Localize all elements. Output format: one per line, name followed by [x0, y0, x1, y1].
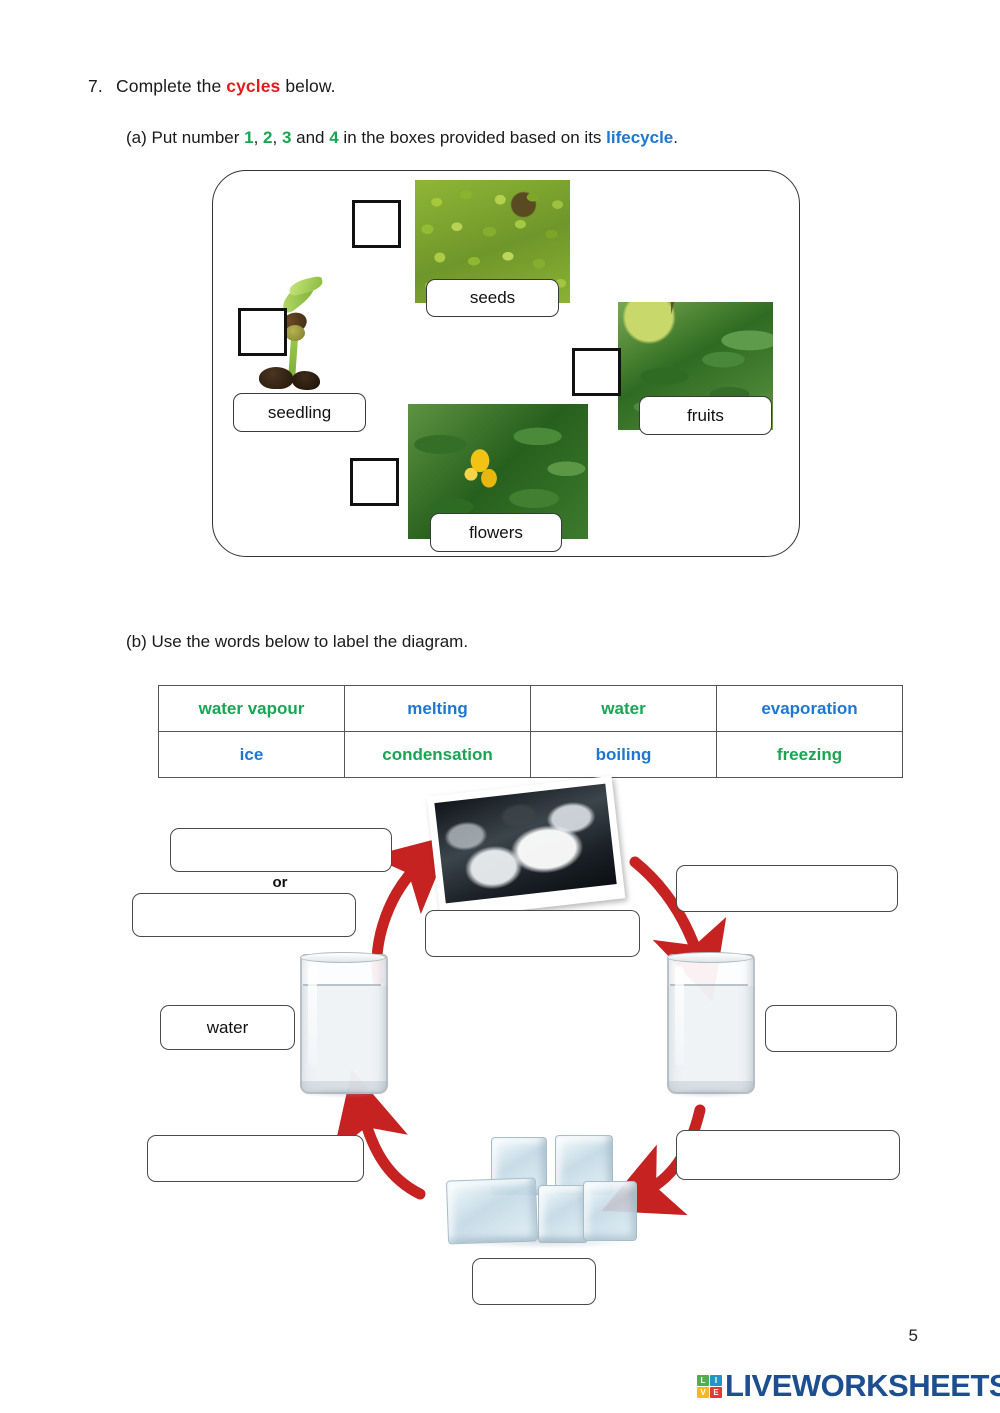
right-upper-box[interactable] [676, 865, 898, 912]
glass-of-water-left [296, 950, 388, 1096]
glass-of-water-right [663, 950, 755, 1096]
glass-highlight [675, 966, 684, 1066]
sep-3: and [291, 128, 329, 147]
question-7-heading: 7.Complete the cycles below. [88, 76, 928, 97]
word-bank-cell[interactable]: condensation [345, 732, 531, 778]
chip-fruits: fruits [639, 396, 772, 435]
word-freezing: freezing [777, 745, 842, 764]
word-melting: melting [407, 699, 467, 718]
number-2: 2 [263, 128, 272, 147]
left-upper-box-2[interactable] [132, 893, 356, 937]
part-a-keyword-lifecycle: lifecycle [606, 128, 673, 147]
glass-rim [667, 952, 753, 963]
part-a-prompt-1: Put number [147, 128, 244, 147]
water-cycle-diagram: or water [0, 780, 1000, 1300]
word-bank-cell[interactable]: boiling [531, 732, 717, 778]
part-a-label: (a) [126, 128, 147, 147]
logo-cell-v: V [697, 1387, 709, 1398]
ice-cube [583, 1181, 637, 1241]
sprout-seed-icon [285, 325, 305, 341]
word-bank-cell[interactable]: melting [345, 686, 531, 732]
glass-rim [300, 952, 386, 963]
number-4: 4 [329, 128, 338, 147]
ice-shadow [453, 1235, 633, 1249]
chip-flowers: flowers [430, 513, 562, 552]
word-water: water [601, 699, 645, 718]
word-bank-row: ice condensation boiling freezing [159, 732, 903, 778]
logo-cell-i: I [710, 1375, 722, 1386]
steam-image [434, 784, 616, 904]
logo-cell-e: E [710, 1387, 722, 1398]
question-text-after: below. [280, 76, 335, 96]
ice-cubes-photo [443, 1135, 643, 1255]
fruits-number-box[interactable] [572, 348, 621, 396]
logo-cell-l: L [697, 1375, 709, 1386]
seedling-number-box[interactable] [238, 308, 287, 356]
part-a-prompt-2: in the boxes provided based on its [339, 128, 606, 147]
worksheet-page: 7.Complete the cycles below. (a) Put num… [0, 0, 1000, 1413]
sep-2: , [273, 128, 282, 147]
page-number: 5 [0, 1326, 918, 1346]
left-upper-box-1[interactable] [170, 828, 392, 872]
or-label: or [170, 872, 390, 892]
liveworksheets-logo: L I V E LIVEWORKSHEETS [697, 1368, 1000, 1404]
liveworksheets-wordmark: LIVEWORKSHEETS [725, 1368, 1000, 1404]
word-bank-cell[interactable]: water vapour [159, 686, 345, 732]
part-a-prompt: (a) Put number 1, 2, 3 and 4 in the boxe… [126, 128, 946, 148]
word-condensation: condensation [382, 745, 493, 764]
soil-clump-icon [259, 367, 293, 389]
word-bank-cell[interactable]: freezing [717, 732, 903, 778]
steam-photo [427, 776, 626, 919]
word-boiling: boiling [596, 745, 652, 764]
chip-seedling: seedling [233, 393, 366, 432]
chip-seeds: seeds [426, 279, 559, 317]
part-a-prompt-3: . [673, 128, 678, 147]
part-b-prompt-text: Use the words below to label the diagram… [147, 632, 468, 651]
question-text-before: Complete the [116, 76, 226, 96]
word-bank-row: water vapour melting water evaporation [159, 686, 903, 732]
word-bank-cell[interactable]: water [531, 686, 717, 732]
word-water-vapour: water vapour [199, 699, 305, 718]
arrow-ice-to-water [362, 1110, 420, 1194]
word-bank-cell[interactable]: evaporation [717, 686, 903, 732]
bottom-left-box[interactable] [147, 1135, 364, 1182]
part-b-label: (b) [126, 632, 147, 651]
glass-highlight [308, 966, 317, 1066]
live-logo-grid: L I V E [697, 1375, 722, 1398]
word-ice: ice [240, 745, 264, 764]
question-keyword-cycles: cycles [226, 76, 280, 96]
left-glass-box[interactable]: water [160, 1005, 295, 1050]
glass-shadow [296, 1088, 388, 1098]
part-b-prompt: (b) Use the words below to label the dia… [126, 632, 946, 652]
ice-label-box[interactable] [472, 1258, 596, 1305]
word-bank-cell[interactable]: ice [159, 732, 345, 778]
number-1: 1 [244, 128, 253, 147]
steam-label-box[interactable] [425, 910, 640, 957]
soil-clump-icon [292, 371, 320, 390]
question-number: 7. [88, 76, 116, 97]
seeds-number-box[interactable] [352, 200, 401, 248]
number-3: 3 [282, 128, 291, 147]
sep-1: , [254, 128, 263, 147]
right-glass-box[interactable] [765, 1005, 897, 1052]
word-evaporation: evaporation [761, 699, 857, 718]
flowers-number-box[interactable] [350, 458, 399, 506]
word-bank: water vapour melting water evaporation i… [158, 685, 903, 775]
bottom-right-box[interactable] [676, 1130, 900, 1180]
glass-shadow [663, 1088, 755, 1098]
